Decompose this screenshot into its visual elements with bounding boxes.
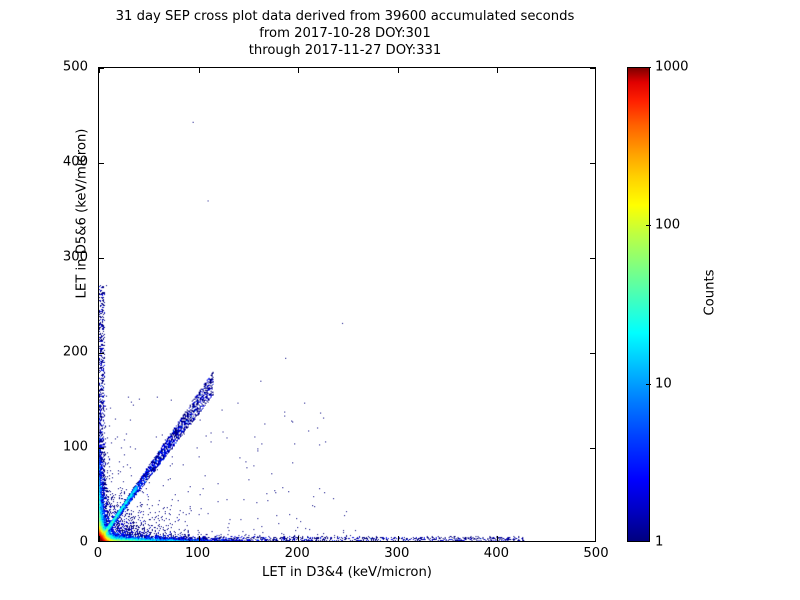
x-tick-label: 300 (384, 546, 409, 561)
x-tick-label: 200 (285, 546, 310, 561)
title-line-2: from 2017-10-28 DOY:301 (0, 25, 690, 42)
x-tick (497, 536, 498, 541)
chart-root: 31 day SEP cross plot data derived from … (0, 0, 800, 600)
y-tick-right (590, 353, 595, 354)
colorbar (627, 67, 650, 542)
y-tick (99, 448, 104, 449)
title-line-1: 31 day SEP cross plot data derived from … (0, 8, 690, 25)
y-tick (99, 163, 104, 164)
colorbar-label: Counts (703, 183, 718, 403)
colorbar-tick (646, 225, 651, 226)
x-tick-top (497, 68, 498, 73)
y-tick-right (590, 68, 595, 69)
x-tick-top (199, 68, 200, 73)
colorbar-tick (646, 384, 651, 385)
colorbar-tick (646, 67, 651, 68)
x-tick-label: 400 (484, 546, 509, 561)
y-axis-label: LET in D5&6 (keV/micron) (75, 0, 90, 463)
x-axis-label: LET in D3&4 (keV/micron) (98, 565, 596, 580)
x-tick-top (298, 68, 299, 73)
y-tick (99, 258, 104, 259)
colorbar-tick-label: 1000 (655, 60, 689, 75)
colorbar-tick-label: 10 (655, 376, 672, 391)
colorbar-tick-label: 100 (655, 218, 680, 233)
y-tick (99, 353, 104, 354)
chart-title: 31 day SEP cross plot data derived from … (0, 8, 690, 59)
y-tick-label: 0 (80, 535, 88, 550)
y-tick-right (590, 448, 595, 449)
x-tick-label: 500 (583, 546, 608, 561)
x-tick (398, 536, 399, 541)
scatter-points-layer (99, 68, 595, 541)
x-tick (99, 536, 100, 541)
colorbar-tick-label: 1 (655, 535, 663, 550)
y-tick (99, 68, 104, 69)
x-tick-label: 100 (185, 546, 210, 561)
x-tick (298, 536, 299, 541)
y-tick-right (590, 163, 595, 164)
x-tick-label: 0 (94, 546, 102, 561)
x-tick-top (398, 68, 399, 73)
x-tick (199, 536, 200, 541)
plot-area (98, 67, 596, 542)
colorbar-gradient (627, 67, 650, 542)
y-tick-right (590, 258, 595, 259)
title-line-3: through 2017-11-27 DOY:331 (0, 42, 690, 59)
